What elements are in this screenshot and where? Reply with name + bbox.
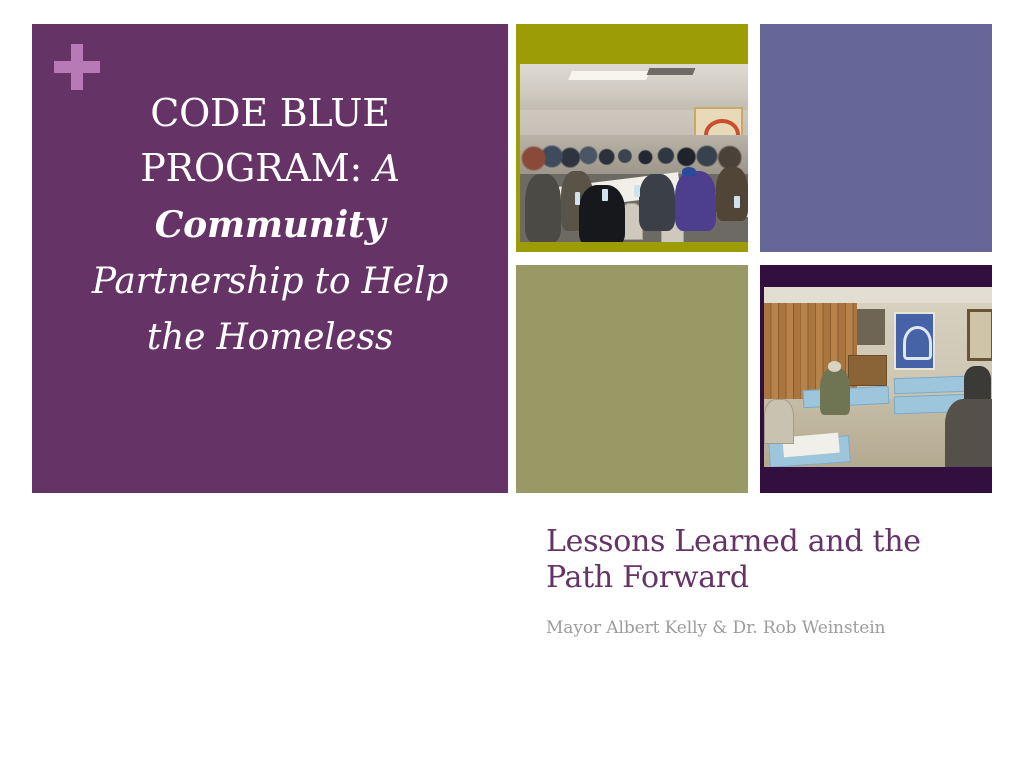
title-line-2-plain: PROGRAM: (140, 146, 362, 190)
shelter-ceiling (764, 287, 992, 303)
shelter-person-background (964, 366, 992, 398)
community-meal-photo (520, 64, 748, 242)
plus-icon-vertical-bar (71, 44, 83, 90)
framed-picture-icon (967, 309, 992, 362)
title-line-3-emphasis: Community (155, 204, 386, 246)
title-line-4: Partnership to Help (92, 261, 448, 302)
image-tile-top-right (760, 24, 992, 252)
meal-standing-crowd (520, 135, 748, 174)
shelter-chair (764, 399, 794, 444)
ceiling-beam (646, 68, 694, 75)
presenter-byline: Mayor Albert Kelly & Dr. Rob Weinstein (546, 618, 976, 638)
subtitle-block: Lessons Learned and the Path Forward May… (546, 524, 976, 638)
water-bottle-4 (734, 196, 740, 208)
plus-icon (54, 44, 100, 90)
ceiling-light-icon (568, 71, 649, 80)
shelter-dresser (848, 355, 887, 386)
water-bottle-1 (575, 192, 581, 204)
image-tile-bottom-left (516, 265, 748, 493)
slide-title: CODE BLUE PROGRAM: A Community Partnersh… (62, 86, 478, 365)
shelter-person-seated (820, 368, 850, 415)
image-tile-top-left (516, 24, 748, 252)
shelter-room-photo (764, 287, 992, 467)
meal-seated-person-4 (639, 174, 675, 231)
meal-seated-person-5 (675, 171, 716, 232)
meal-seated-person-6 (716, 167, 748, 220)
water-bottle-3 (634, 185, 640, 197)
shelter-person-foreground (945, 399, 992, 467)
title-line-5: the Homeless (147, 317, 393, 358)
shelter-cot-2 (894, 376, 966, 395)
blue-heart-quilt-icon (894, 312, 935, 370)
shelter-window (857, 309, 885, 345)
baseball-cap-icon (682, 167, 696, 176)
subtitle-heading: Lessons Learned and the Path Forward (546, 524, 976, 596)
title-line-2-italic: A (374, 149, 400, 190)
title-line-1: CODE BLUE (150, 91, 390, 135)
image-tile-bottom-right (760, 265, 992, 493)
water-bottle-2 (602, 189, 608, 201)
meal-seated-person-1 (525, 174, 561, 242)
title-panel: CODE BLUE PROGRAM: A Community Partnersh… (32, 24, 508, 493)
